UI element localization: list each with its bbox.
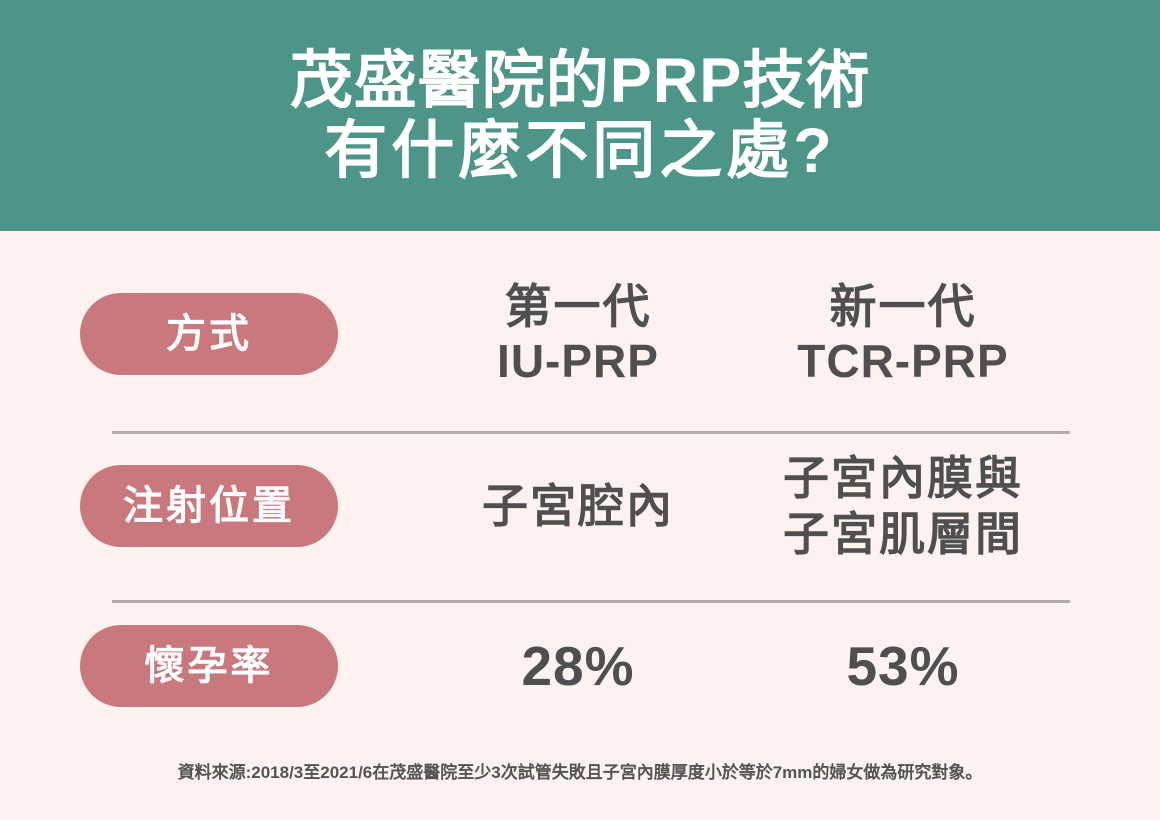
cell-injection-site-gen2: 子宮內膜與 子宮肌層間 bbox=[738, 450, 1068, 562]
cell-method-gen2-en: TCR-PRP bbox=[797, 334, 1008, 388]
source-footnote: 資料來源:2018/3至2021/6在茂盛醫院至少3次試管失敗且子宮內膜厚度小於… bbox=[0, 758, 1160, 783]
table-row: 方式 第一代 IU-PRP 新一代 TCR-PRP bbox=[0, 279, 1160, 389]
row-divider-1 bbox=[112, 431, 1070, 434]
cell-pregnancy-rate-gen1: 28% bbox=[418, 636, 738, 696]
row-label-pill-injection-site: 注射位置 bbox=[80, 465, 338, 547]
page-title-line-2: 有什麼不同之處? bbox=[324, 116, 835, 186]
row-label-pill-method: 方式 bbox=[80, 293, 338, 375]
cell-method-gen1: 第一代 IU-PRP bbox=[418, 280, 738, 388]
row-label-text: 懷孕率 bbox=[145, 646, 274, 686]
row-divider-2 bbox=[112, 600, 1070, 603]
cell-injection-site-gen2-line1: 子宮內膜與 bbox=[783, 450, 1023, 506]
cell-method-gen1-cn: 第一代 bbox=[505, 280, 652, 334]
table-row: 注射位置 子宮腔內 子宮內膜與 子宮肌層間 bbox=[0, 441, 1160, 571]
table-row: 懷孕率 28% 53% bbox=[0, 611, 1160, 721]
page-title-line-1: 茂盛醫院的PRP技術 bbox=[290, 46, 871, 116]
row-label-text: 注射位置 bbox=[123, 486, 295, 526]
cell-injection-site-gen1-line1: 子宮腔內 bbox=[482, 478, 674, 534]
cell-pregnancy-rate-gen2-value: 53% bbox=[846, 636, 959, 696]
cell-method-gen1-en: IU-PRP bbox=[497, 334, 659, 388]
cell-pregnancy-rate-gen1-value: 28% bbox=[521, 636, 634, 696]
header-banner: 茂盛醫院的PRP技術 有什麼不同之處? bbox=[0, 0, 1160, 231]
cell-method-gen2: 新一代 TCR-PRP bbox=[738, 280, 1068, 388]
row-label-cell: 注射位置 bbox=[0, 465, 418, 547]
row-label-pill-pregnancy-rate: 懷孕率 bbox=[80, 625, 338, 707]
row-label-text: 方式 bbox=[166, 314, 252, 354]
comparison-table: 方式 第一代 IU-PRP 新一代 TCR-PRP 注射位置 子宮腔內 子宮內膜… bbox=[0, 231, 1160, 731]
row-label-cell: 方式 bbox=[0, 293, 418, 375]
row-label-cell: 懷孕率 bbox=[0, 625, 418, 707]
cell-injection-site-gen1: 子宮腔內 bbox=[418, 478, 738, 534]
cell-injection-site-gen2-line2: 子宮肌層間 bbox=[783, 506, 1023, 562]
cell-pregnancy-rate-gen2: 53% bbox=[738, 636, 1068, 696]
cell-method-gen2-cn: 新一代 bbox=[830, 280, 977, 334]
